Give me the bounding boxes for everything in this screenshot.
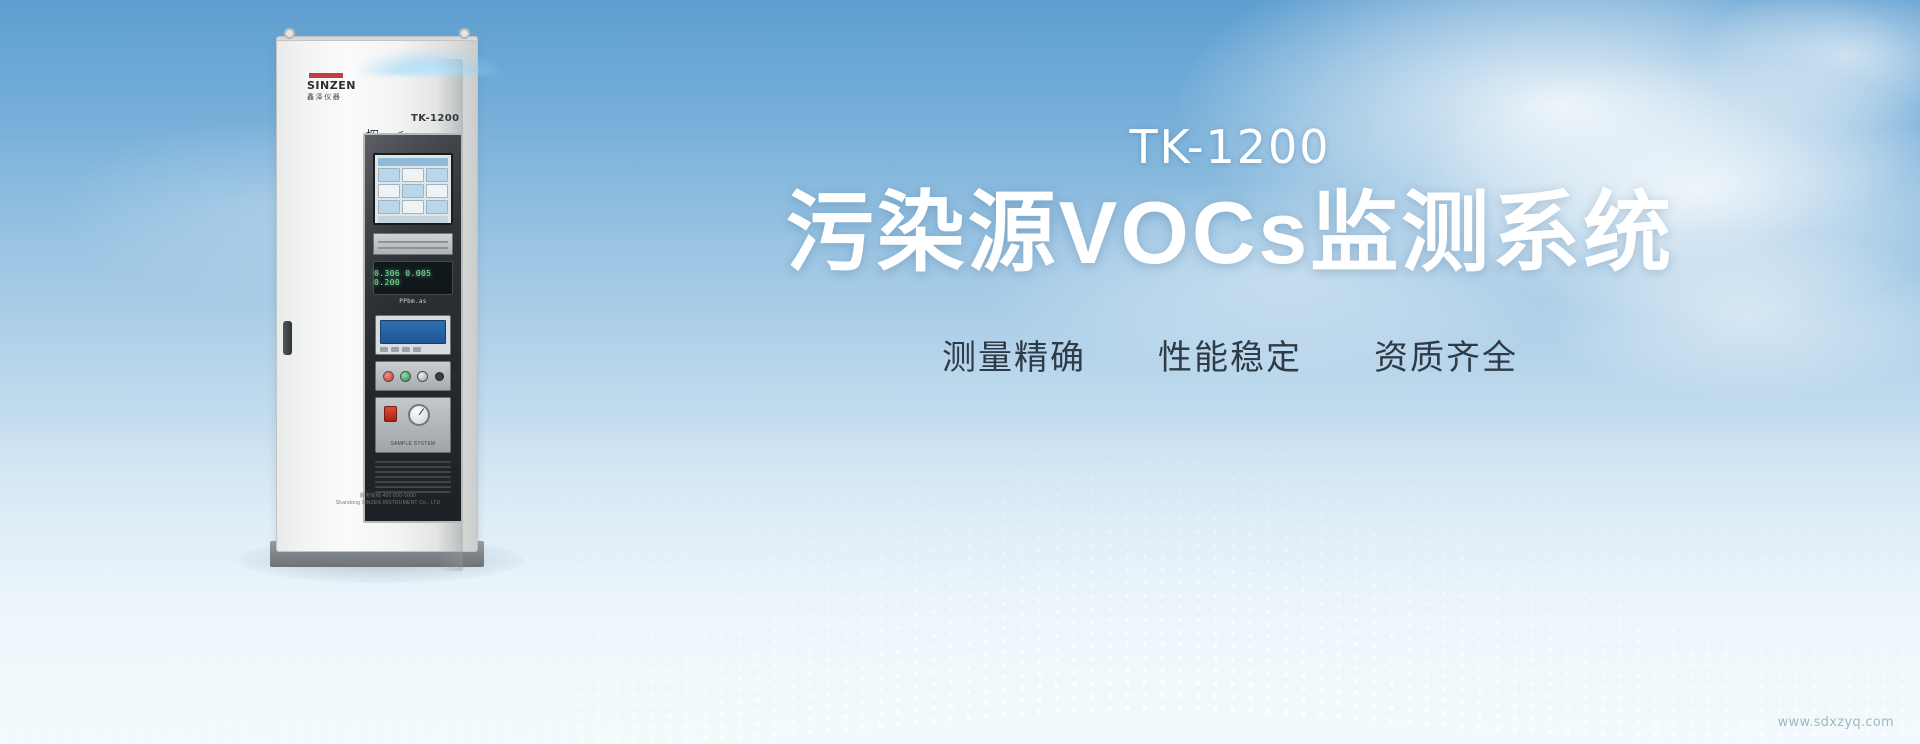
port-icon — [435, 372, 444, 381]
hmi-status-bar — [378, 216, 448, 223]
feature-list: 测量精确 性能稳定 资质齐全 — [660, 330, 1800, 379]
hmi-tile — [402, 168, 424, 182]
brand-name-cn: 鑫泽仪器 — [307, 93, 373, 102]
model-label: TK-1200 — [660, 120, 1800, 174]
hmi-tile — [426, 200, 448, 214]
cabinet-footer-line1: 服务热线:400-000-0000 — [299, 493, 477, 500]
knob-grey-icon — [417, 371, 428, 382]
brand-block: SINZEN 鑫泽仪器 — [307, 73, 373, 102]
instrument-window: 0.306 0.005 0.200 PPbm.as — [363, 133, 463, 523]
knob-green-icon — [400, 371, 411, 382]
feature-item-1: 性能稳定 — [1158, 330, 1302, 379]
product-banner: SINZEN 鑫泽仪器 TK-1200 挥发性有机物在线监测系统 VOCs Co… — [0, 0, 1920, 744]
led-readout-value: 0.306 0.005 0.200 — [374, 269, 452, 287]
vent-slot — [375, 476, 451, 478]
lcd-button — [380, 347, 388, 352]
lcd-module — [375, 315, 451, 355]
eyebolt-icon — [284, 28, 295, 39]
cabinet-footer-line2: Shandong SINZEN INSTRUMENT Co., LTD — [299, 500, 477, 507]
feature-item-0: 测量精确 — [942, 330, 1086, 379]
vent-slot — [375, 466, 451, 468]
module-slit — [378, 247, 448, 249]
hmi-tile — [378, 184, 400, 198]
vent-slot — [375, 461, 451, 463]
hmi-title-bar — [378, 158, 448, 166]
module-slit — [378, 241, 448, 243]
hmi-tile — [426, 184, 448, 198]
banner-copy: TK-1200 污染源VOCs监测系统 测量精确 性能稳定 资质齐全 — [660, 120, 1800, 379]
vent-slot — [375, 481, 451, 483]
lcd-button — [402, 347, 410, 352]
hmi-tile — [426, 168, 448, 182]
analyser-module — [373, 233, 453, 255]
hmi-tile — [402, 184, 424, 198]
eyebolt-icon — [459, 28, 470, 39]
cabinet-body: SINZEN 鑫泽仪器 TK-1200 挥发性有机物在线监测系统 VOCs Co… — [276, 40, 478, 552]
hmi-touch-panel — [373, 153, 453, 225]
lcd-button — [413, 347, 421, 352]
cabinet-footer-text: 服务热线:400-000-0000 Shandong SINZEN INSTRU… — [299, 493, 477, 507]
cloud-decoration — [1700, 0, 1920, 130]
door-handle — [283, 321, 292, 355]
vent-slot — [375, 486, 451, 488]
product-image: SINZEN 鑫泽仪器 TK-1200 挥发性有机物在线监测系统 VOCs Co… — [262, 22, 492, 567]
knob-red-icon — [383, 371, 394, 382]
hmi-tile — [402, 200, 424, 214]
control-strip — [375, 361, 451, 391]
lower-panel-label: SAMPLE SYSTEM — [376, 441, 450, 447]
hmi-tile — [378, 200, 400, 214]
hmi-tile-grid — [378, 168, 448, 214]
brand-accent-bar — [309, 73, 343, 78]
hmi-tile — [378, 168, 400, 182]
site-watermark: www.sdxzyq.com — [1778, 715, 1894, 730]
brand-name: SINZEN — [307, 79, 373, 92]
led-readout: 0.306 0.005 0.200 — [373, 261, 453, 295]
feature-item-2: 资质齐全 — [1374, 330, 1518, 379]
cabinet-model-tag: TK-1200 — [411, 113, 459, 124]
vent-slot — [375, 471, 451, 473]
vent-group — [375, 461, 451, 496]
pressure-gauge-icon — [408, 404, 430, 426]
lcd-screen — [380, 320, 446, 344]
page-title: 污染源VOCs监测系统 — [660, 182, 1800, 284]
lcd-button — [391, 347, 399, 352]
led-readout-unit: PPbm.as — [373, 298, 453, 305]
emergency-switch-icon — [384, 406, 397, 422]
cabinet-top-highlight — [355, 49, 505, 75]
lcd-button-row — [380, 347, 446, 352]
lower-control-panel: SAMPLE SYSTEM — [375, 397, 451, 453]
